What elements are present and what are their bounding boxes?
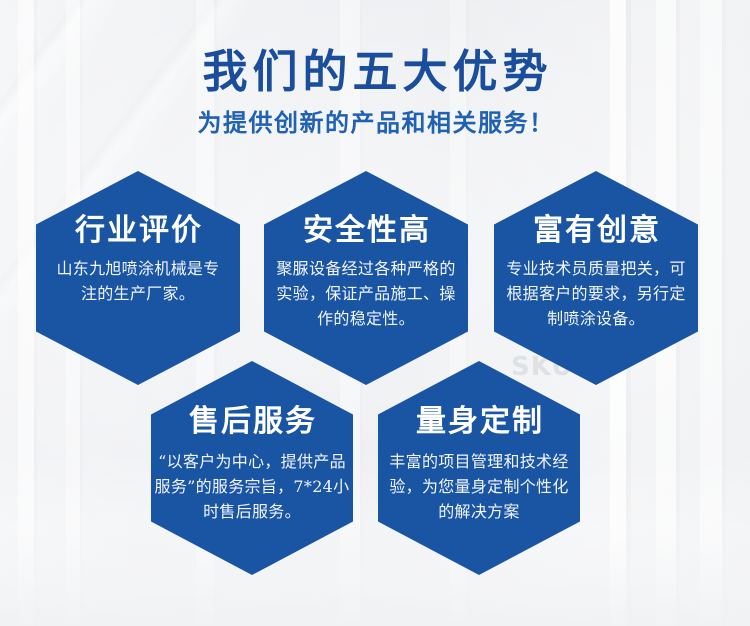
advantage-title: 行业评价 <box>73 214 203 248</box>
advantage-card-tailor-made[interactable]: 量身定制 丰富的项目管理和技术经验，为您量身定制个性化的解决方案 <box>378 361 580 575</box>
advantage-title: 富有创意 <box>531 214 661 248</box>
advantage-body: “以客户为中心，提供产品服务”的服务宗旨，7*24小时售后服务。 <box>154 449 350 524</box>
advantage-card-after-sales-service[interactable]: 售后服务 “以客户为中心，提供产品服务”的服务宗旨，7*24小时售后服务。 <box>151 361 353 575</box>
page-subtitle: 为提供创新的产品和相关服务！ <box>0 108 750 138</box>
advantage-card-industry-evaluation[interactable]: 行业评价 山东九旭喷涂机械是专注的生产厂家。 <box>36 171 240 385</box>
advantage-body: 聚脲设备经过各种严格的实验，保证产品施工、操作的稳定性。 <box>273 256 459 331</box>
advantage-body: 专业技术员质量把关，可根据客户的要求，另行定制喷涂设备。 <box>500 256 692 331</box>
advantage-card-high-safety[interactable]: 安全性高 聚脲设备经过各种严格的实验，保证产品施工、操作的稳定性。 <box>264 171 468 385</box>
promo-banner: SKU 我们的五大优势 为提供创新的产品和相关服务！ 行业评价 山东九旭喷涂机械… <box>0 0 750 626</box>
advantage-body: 山东九旭喷涂机械是专注的生产厂家。 <box>50 256 226 306</box>
advantage-title: 量身定制 <box>414 405 544 439</box>
advantage-title: 安全性高 <box>301 214 431 248</box>
advantage-card-creative[interactable]: 富有创意 专业技术员质量把关，可根据客户的要求，另行定制喷涂设备。 <box>494 171 698 385</box>
advantage-body: 丰富的项目管理和技术经验，为您量身定制个性化的解决方案 <box>384 449 574 524</box>
header-block: 我们的五大优势 为提供创新的产品和相关服务！ <box>0 44 750 138</box>
page-title: 我们的五大优势 <box>0 44 750 100</box>
advantage-title: 售后服务 <box>187 405 317 439</box>
